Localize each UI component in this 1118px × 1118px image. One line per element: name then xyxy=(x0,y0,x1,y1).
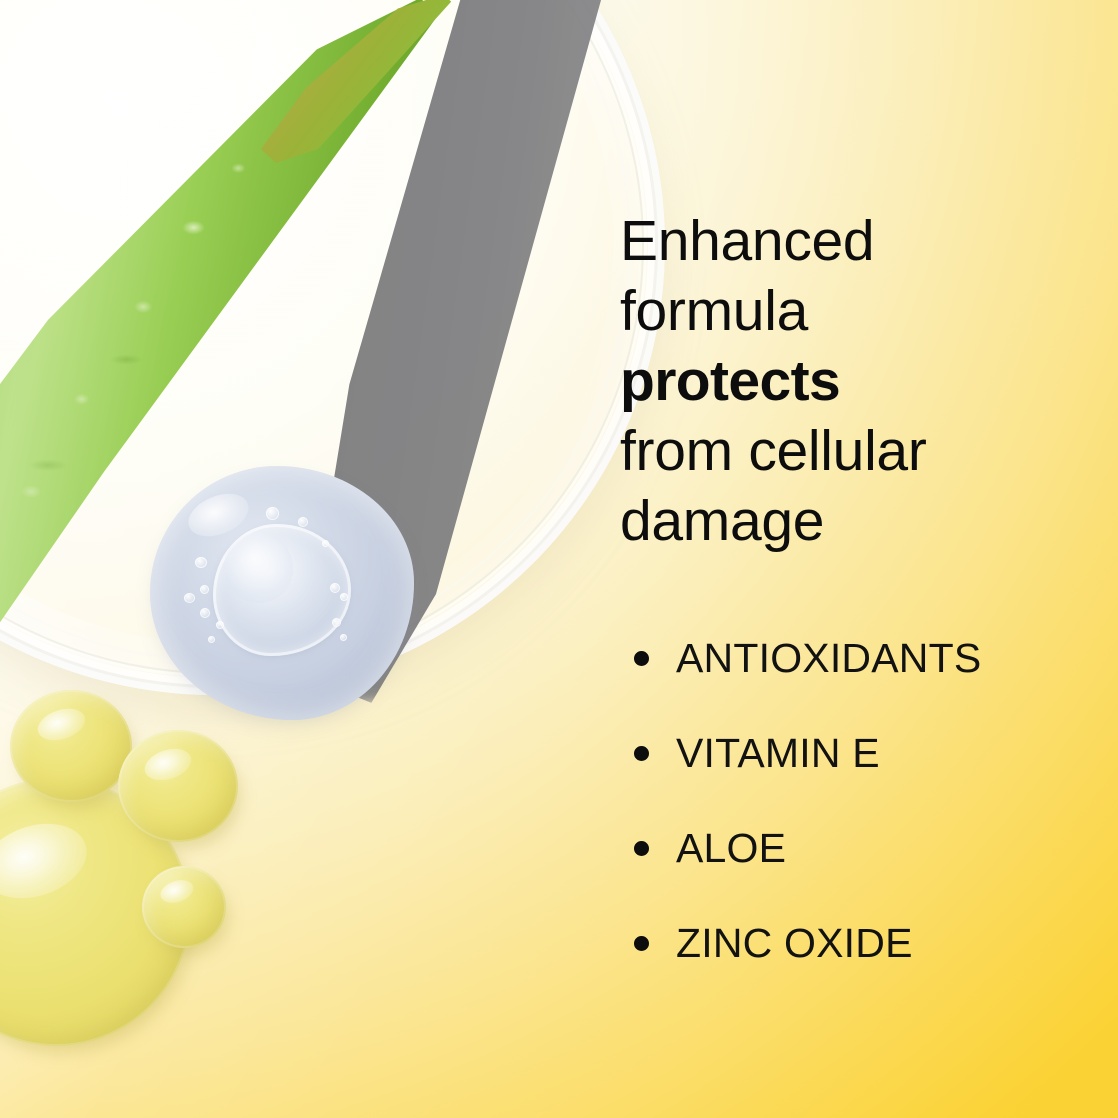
gel-blob-core-inner xyxy=(224,532,293,603)
gel-bubble xyxy=(330,583,340,593)
ingredient-label: ALOE xyxy=(676,824,786,872)
headline-emphasis-protects: protects xyxy=(620,346,1088,416)
headline-line-1: Enhanced xyxy=(620,206,1088,276)
gel-bubble xyxy=(216,621,224,629)
promo-image: Enhanced formula protects from cellular … xyxy=(0,0,1118,1118)
headline-line-4: from cellular xyxy=(620,416,1088,486)
ingredient-label: VITAMIN E xyxy=(676,729,880,777)
headline-line-2: formula xyxy=(620,276,1088,346)
bullet-icon xyxy=(634,746,649,761)
list-item: ANTIOXIDANTS xyxy=(634,634,1084,682)
ingredient-label: ANTIOXIDANTS xyxy=(676,634,981,682)
headline-line-5: damage xyxy=(620,486,1088,556)
ingredients-list: ANTIOXIDANTS VITAMIN E ALOE ZINC OXIDE xyxy=(634,634,1084,967)
list-item: ALOE xyxy=(634,824,1084,872)
gel-bubble xyxy=(298,517,308,527)
list-item: ZINC OXIDE xyxy=(634,919,1084,967)
bullet-icon xyxy=(634,651,649,666)
oil-droplet-small xyxy=(142,866,226,948)
gel-bubble xyxy=(322,540,329,547)
bullet-icon xyxy=(634,841,649,856)
bullet-icon xyxy=(634,936,649,951)
list-item: VITAMIN E xyxy=(634,729,1084,777)
gel-bubble xyxy=(266,507,279,520)
headline: Enhanced formula protects from cellular … xyxy=(620,206,1088,556)
oil-droplet-mid xyxy=(118,730,238,842)
text-panel: Enhanced formula protects from cellular … xyxy=(618,0,1088,1118)
gel-bubble xyxy=(340,634,347,641)
gel-blob xyxy=(150,466,414,720)
ingredient-label: ZINC OXIDE xyxy=(676,919,913,967)
oil-droplet-top xyxy=(10,690,132,802)
